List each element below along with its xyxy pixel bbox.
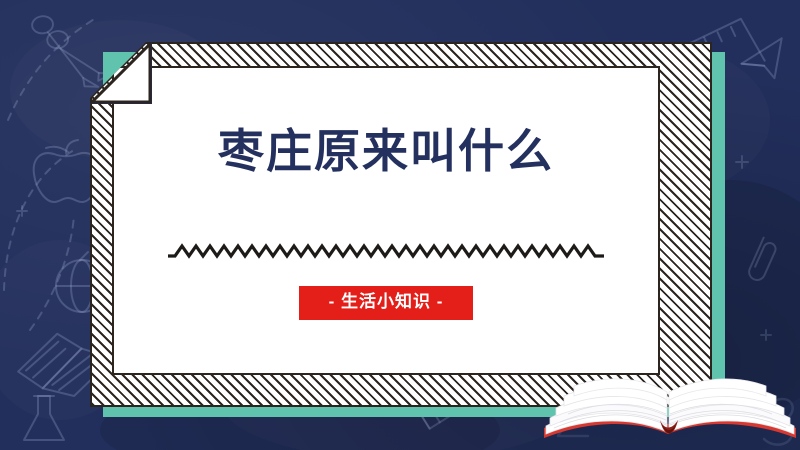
open-book-illustration (540, 362, 800, 450)
status-badge: - 生活小知识 - (299, 286, 474, 320)
slide-content: 枣庄原来叫什么 - 生活小知识 - (112, 66, 660, 375)
zigzag-divider (168, 240, 604, 262)
flask-doodle (24, 396, 64, 440)
plane-doodle (738, 38, 788, 83)
paperclip-doodle (747, 238, 779, 283)
page-title: 枣庄原来叫什么 (218, 128, 554, 174)
slide-canvas: 枣庄原来叫什么 - 生活小知识 - (0, 0, 800, 450)
